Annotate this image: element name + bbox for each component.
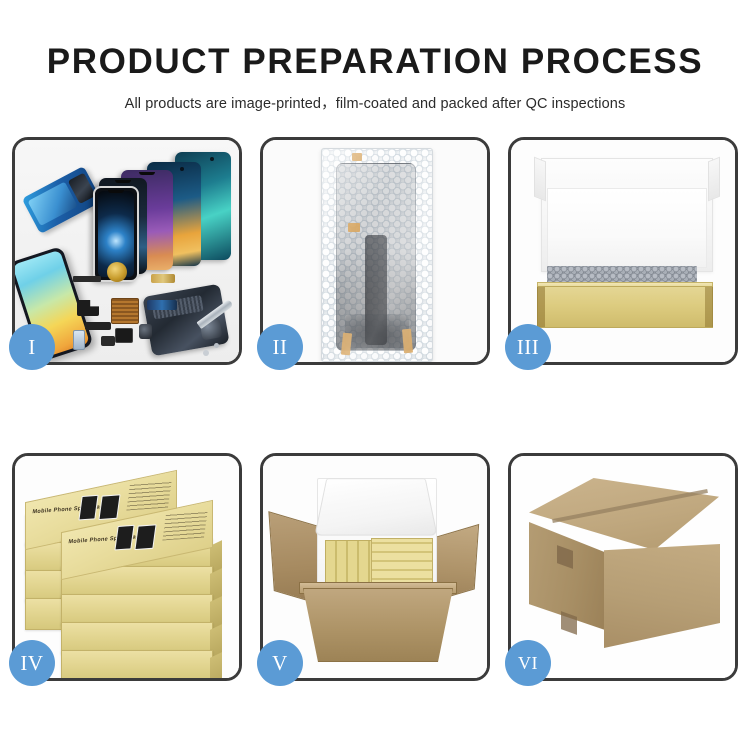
box-label-window-icon [134, 524, 156, 550]
antenna-cable-part-icon [85, 322, 111, 330]
box-label-window-icon [114, 525, 134, 551]
header: PRODUCT PREPARATION PROCESS All products… [0, 0, 750, 113]
screen-notch-icon [115, 180, 131, 183]
camera-module-part-icon [139, 324, 152, 339]
step-5-image [263, 456, 487, 678]
step-2-badge: II [257, 324, 303, 370]
bubble-wrap-scene [263, 140, 487, 362]
tape-strip-icon [341, 333, 352, 356]
inner-box-scene [511, 140, 735, 362]
process-step-grid: I I [12, 137, 738, 691]
tape-strip-icon [348, 223, 360, 232]
step-1-badge: I [9, 324, 55, 370]
bubble-wrap-bag-icon [321, 148, 433, 362]
product-preparation-infographic: PRODUCT PREPARATION PROCESS All products… [0, 0, 750, 750]
box-label-window-icon [78, 495, 98, 521]
process-step-5: V [260, 453, 490, 681]
wrapped-part-base-shadow [345, 314, 409, 348]
foam-lid-icon [314, 478, 437, 535]
step-4-badge: IV [9, 640, 55, 686]
page-title: PRODUCT PREPARATION PROCESS [0, 0, 750, 81]
vibration-motor-part-icon [107, 262, 127, 282]
step-6-badge: VI [505, 640, 551, 686]
box-side-face [210, 652, 222, 678]
kraft-box-body-icon [537, 286, 713, 328]
camera-punch-hole-icon [210, 157, 214, 161]
screw-part-icon [214, 343, 219, 348]
earpiece-speaker-part-icon [73, 276, 101, 282]
camera-punch-hole-icon [180, 167, 184, 171]
step-3-badge: III [505, 324, 551, 370]
step-3-image [511, 140, 735, 362]
step-5-badge: V [257, 640, 303, 686]
step-2-image [263, 140, 487, 362]
process-step-4: Mobile Phone Spare Parts Mobile Phone Sp… [12, 453, 242, 681]
carton-packing-scene [263, 456, 487, 678]
wrapped-screen-part-icon [336, 163, 416, 351]
screen-notch-icon [139, 172, 155, 175]
phone-parts-scene [15, 140, 239, 362]
packed-boxes-row-icon [371, 538, 433, 588]
flex-cable-part-icon [77, 300, 99, 316]
process-step-2: II [260, 137, 490, 365]
box-label-spec-lines [126, 481, 171, 511]
box-label-spec-lines [162, 511, 207, 541]
foam-sheet-icon [547, 188, 707, 268]
process-step-6: VI [508, 453, 738, 681]
ic-chip-part-icon [115, 328, 133, 343]
gold-flex-cable-part-icon [151, 274, 175, 283]
spare-part-box [61, 650, 213, 678]
stacked-boxes-scene: Mobile Phone Spare Parts Mobile Phone Sp… [15, 456, 239, 678]
battery-connector-part-icon [73, 330, 85, 350]
step-1-image [15, 140, 239, 362]
page-subtitle: All products are image-printed，film-coat… [0, 81, 750, 113]
box-stack: Mobile Phone Spare Parts Mobile Phone Sp… [21, 470, 239, 670]
copper-shield-part-icon [111, 298, 139, 324]
step-6-image [511, 456, 735, 678]
process-step-3: III [508, 137, 738, 365]
tape-strip-icon [352, 153, 362, 161]
screw-part-icon [203, 350, 209, 356]
process-step-1: I [12, 137, 242, 365]
blue-flex-cable-part-icon [147, 300, 177, 310]
sealed-carton-scene [511, 456, 735, 678]
carton-front-face-icon [303, 588, 453, 662]
step-4-image: Mobile Phone Spare Parts Mobile Phone Sp… [15, 456, 239, 678]
carton-right-face-icon [604, 544, 720, 648]
loudspeaker-part-icon [101, 336, 115, 346]
blue-lcd-screen-icon [22, 166, 103, 234]
screen-notch-icon [108, 190, 124, 193]
box-label-window-icon [98, 494, 120, 520]
